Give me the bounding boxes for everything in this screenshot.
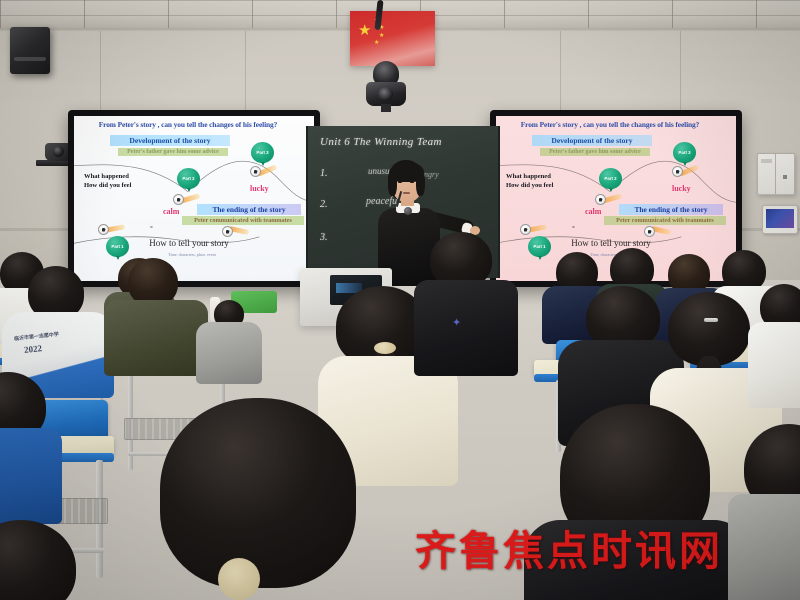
balloon-part-3: Part 3 <box>673 142 696 163</box>
slide-lucky-label: lucky <box>250 184 269 193</box>
wall-tablet-display[interactable] <box>762 205 798 234</box>
student-head <box>128 258 178 306</box>
slide-question-line-2: How did you feel <box>84 181 162 190</box>
balloon-part-2: Part 2 <box>177 168 200 189</box>
slide-title: From Peter's story , can you tell the ch… <box>500 120 720 129</box>
panel-switch-icon[interactable] <box>783 175 787 179</box>
slide-how-to-tell: How to tell your story <box>536 238 686 248</box>
student-head <box>160 398 356 588</box>
student-torso <box>0 428 62 524</box>
slide-calm-label: calm <box>163 207 179 216</box>
slide-advice-line: Peter's father gave him some advice <box>118 148 228 156</box>
panel-divider <box>775 154 776 194</box>
slide-communicated-line: Peter communicated with teammates <box>604 216 726 225</box>
soccer-ball-icon <box>250 166 261 177</box>
slide-question-line-2: How did you feel <box>506 181 584 190</box>
teacher-hair-right <box>416 170 425 196</box>
student-head <box>668 292 750 366</box>
teacher-eye <box>410 181 414 183</box>
tablet-screen <box>766 209 794 228</box>
slide-question-block: What happened How did you feel <box>84 172 162 190</box>
soccer-ball-icon <box>520 224 531 235</box>
hair-clip <box>704 318 718 322</box>
chinese-national-flag: ★ ★ ★ ★ ★ <box>350 11 435 66</box>
blackboard-line-1-number: 1. <box>320 168 328 179</box>
slide-ending-heading: The ending of the story <box>197 204 301 215</box>
ceiling-camera <box>366 82 406 106</box>
teacher-eye <box>398 181 402 183</box>
soccer-ball-icon <box>222 226 233 237</box>
slide-equals-mark: = <box>150 226 153 231</box>
wall-speaker <box>10 27 50 74</box>
slide-question-block: What happened How did you feel <box>506 172 584 190</box>
slide-development-heading: Development of the story <box>532 135 652 146</box>
wall-control-panel[interactable] <box>757 153 795 195</box>
microphone-icon <box>404 207 412 215</box>
slide-ending-heading: The ending of the story <box>619 204 723 215</box>
student-torso <box>414 280 518 376</box>
uniform-year-text: 2022 <box>24 343 43 355</box>
watermark: 齐鲁焦点时讯网 <box>415 517 723 577</box>
balloon-part-2: Part 2 <box>599 168 622 189</box>
ceiling-camera-mount <box>381 104 391 112</box>
slide-development-heading: Development of the story <box>110 135 230 146</box>
soccer-ball-icon <box>595 194 606 205</box>
flag-star-small: ★ <box>379 33 384 39</box>
blackboard-line-3-number: 3. <box>320 232 328 243</box>
flag-star-small: ★ <box>374 40 379 46</box>
slide-how-to-tell: How to tell your story <box>114 238 264 248</box>
slide-question-line-1: What happened <box>506 172 584 181</box>
teacher-hair-left <box>388 170 397 196</box>
balloon-part-1: Part 1 <box>528 236 551 257</box>
slide-advice-line: Peter's father gave him some advice <box>540 148 650 156</box>
jacket-star-icon: ✦ <box>452 318 461 329</box>
slide-equals-mark: = <box>572 226 575 231</box>
student-torso <box>728 494 800 600</box>
student-torso <box>104 300 208 376</box>
left-presentation-display[interactable]: From Peter's story , can you tell the ch… <box>68 110 320 287</box>
slide-question-line-1: What happened <box>84 172 162 181</box>
classroom-photo: ★ ★ ★ ★ ★ From Peter's story , can you t… <box>0 0 800 600</box>
slide-communicated-line: Peter communicated with teammates <box>182 216 304 225</box>
soccer-ball-icon <box>672 166 683 177</box>
balloon-part-3: Part 3 <box>251 142 274 163</box>
slide-calm-label: calm <box>585 207 601 216</box>
soccer-ball-icon <box>644 226 655 237</box>
slide-footer-note: Time, characters, place, event <box>122 252 262 257</box>
balloon-part-1: Part 1 <box>106 236 129 257</box>
left-screen: From Peter's story , can you tell the ch… <box>74 116 314 281</box>
flag-star-large: ★ <box>358 23 371 38</box>
teacher-mouth <box>403 192 410 194</box>
soccer-ball-icon <box>98 224 109 235</box>
slide-lucky-label: lucky <box>672 184 691 193</box>
hair-tie <box>374 342 396 354</box>
slide-title: From Peter's story , can you tell the ch… <box>78 120 298 129</box>
student-torso <box>196 322 262 384</box>
left-slide: From Peter's story , can you tell the ch… <box>74 116 314 281</box>
panel-slot <box>761 159 772 163</box>
blackboard-line-2-number: 2. <box>320 199 328 210</box>
soccer-ball-icon <box>173 194 184 205</box>
student-torso <box>748 322 800 408</box>
blackboard-title: Unit 6 The Winning Team <box>320 136 442 148</box>
hair-tie-pompom <box>218 558 260 600</box>
